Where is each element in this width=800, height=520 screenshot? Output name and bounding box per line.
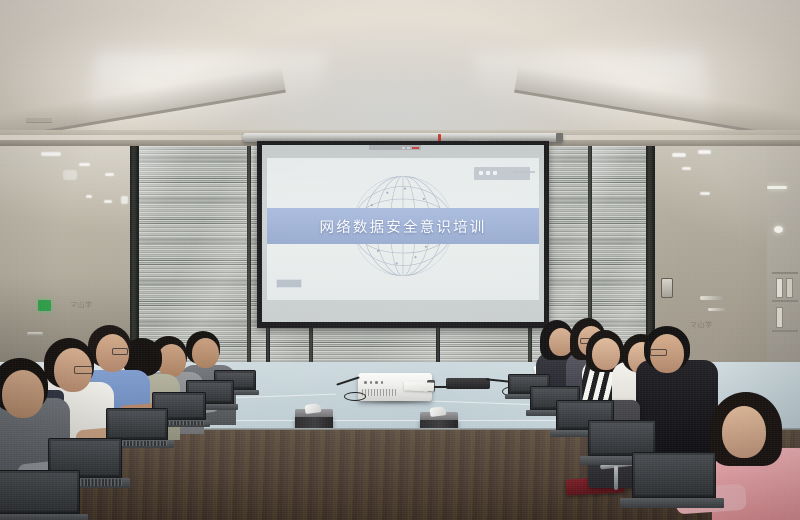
slide-title: 网络数据安全意识培训 — [320, 216, 487, 237]
tissue-sheet — [430, 406, 447, 417]
reflected-ceiling-light — [698, 150, 711, 154]
laptop-screen — [0, 473, 77, 511]
conference-room-photo: マ山学 マ山学 — [0, 0, 800, 520]
glass-decal-text: マ山学 — [70, 300, 93, 310]
head — [2, 370, 44, 418]
logo-dot — [493, 171, 497, 175]
projector-indicator-lights — [364, 381, 383, 384]
door-card-reader[interactable] — [661, 278, 673, 298]
screen-surface: 网络数据安全意识培训 — [262, 145, 544, 322]
chrome-dot — [402, 147, 405, 149]
laptop-lid — [0, 470, 80, 514]
laptop-lid — [106, 408, 168, 440]
presentation-slide: 网络数据安全意识培训 — [267, 158, 539, 300]
blinds-glass-sheen — [139, 146, 247, 362]
screen-roller-cap — [556, 133, 563, 142]
reflected-ceiling-light — [682, 167, 691, 170]
logo-dot — [486, 171, 490, 175]
office-binder — [786, 278, 793, 298]
eyeglasses — [650, 349, 667, 356]
far-ceiling-light — [767, 186, 787, 189]
far-ceiling-downlight — [774, 226, 783, 233]
office-shelf — [772, 272, 798, 274]
projector-vent — [362, 389, 396, 396]
glass-partition-left — [139, 146, 247, 362]
glass-decal-text: マ山学 — [690, 320, 713, 330]
slide-title-band: 网络数据安全意识培训 — [267, 208, 539, 244]
slide-window-chrome — [369, 145, 421, 150]
reflected-ceiling-light — [672, 153, 686, 157]
logo-dot — [479, 171, 483, 175]
office-binder — [776, 278, 783, 298]
power-cable — [432, 386, 450, 388]
tissue-sheet — [305, 403, 322, 414]
laptop-base — [0, 514, 88, 520]
laptop-lid — [632, 452, 716, 498]
projection-screen: 网络数据安全意识培训 — [257, 141, 549, 328]
laptop-screen — [109, 411, 165, 437]
head — [722, 406, 766, 458]
door-pull-handle[interactable] — [700, 296, 726, 300]
ceiling-vent — [26, 118, 52, 122]
eyeglasses — [112, 348, 128, 355]
laptop-screen — [635, 455, 713, 495]
window-mullion — [247, 146, 251, 364]
reflected-ceiling-light — [700, 192, 710, 195]
eyeglasses — [74, 366, 93, 374]
laptop-base — [620, 498, 724, 508]
office-binder — [776, 307, 783, 328]
door-handle[interactable] — [27, 332, 43, 336]
indicator-dot — [375, 381, 378, 384]
head — [192, 338, 219, 368]
chrome-dot — [407, 147, 410, 149]
office-shelf — [772, 330, 798, 332]
slide-footer-chip — [276, 279, 302, 288]
coiled-cable — [344, 392, 366, 401]
indicator-dot — [381, 381, 384, 384]
office-shelf — [772, 300, 798, 302]
window-mullion — [130, 146, 139, 364]
slide-logo-placeholder — [474, 167, 530, 180]
chrome-close-dot — [412, 147, 419, 149]
chair-post — [614, 466, 618, 490]
cable-hub[interactable] — [446, 378, 490, 389]
laptop-screen — [591, 423, 653, 453]
exit-sign-icon — [38, 300, 51, 311]
indicator-dot — [364, 381, 367, 384]
slide-logo-underline — [513, 171, 535, 173]
paper-document[interactable] — [404, 381, 434, 392]
indicator-dot — [370, 381, 373, 384]
laptop-lid — [588, 420, 656, 456]
door-pull-handle[interactable] — [708, 308, 728, 311]
